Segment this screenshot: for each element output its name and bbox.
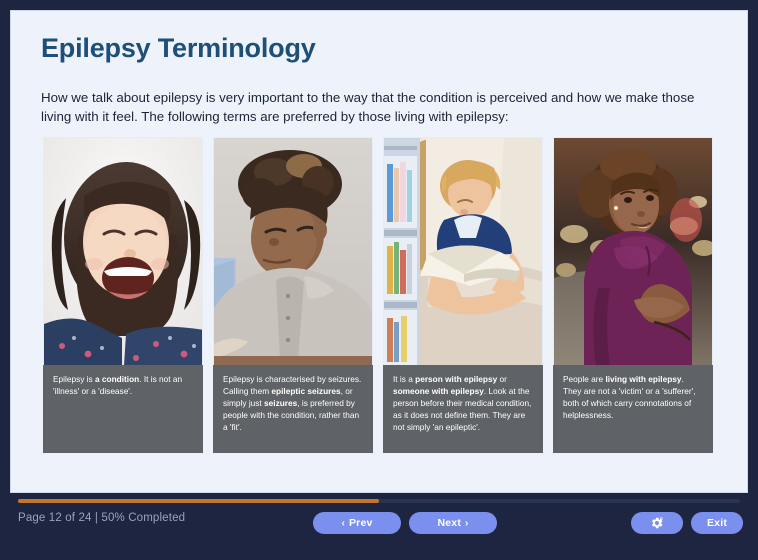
exit-button[interactable]: Exit bbox=[691, 512, 743, 534]
girl-in-purple-top-photo bbox=[553, 137, 713, 365]
progress-status-label: Page 12 of 24 | 50% Completed bbox=[18, 512, 185, 524]
term-card-caption: Epilepsy is a condition. It is not an 'i… bbox=[43, 365, 203, 453]
slide-content-panel: Epilepsy Terminology How we talk about e… bbox=[10, 10, 748, 493]
term-card-caption: It is a person with epilepsy or someone … bbox=[383, 365, 543, 453]
next-button[interactable]: Next › bbox=[409, 512, 497, 534]
term-card: It is a person with epilepsy or someone … bbox=[383, 137, 543, 453]
exit-button-label: Exit bbox=[707, 517, 727, 529]
terminology-card-row: Epilepsy is a condition. It is not an 'i… bbox=[43, 137, 719, 453]
term-card: Epilepsy is a condition. It is not an 'i… bbox=[43, 137, 203, 453]
course-player-window: Epilepsy Terminology How we talk about e… bbox=[0, 0, 758, 560]
next-button-label: Next bbox=[437, 517, 461, 529]
chevron-right-icon: › bbox=[465, 518, 469, 529]
laughing-young-girl-photo bbox=[43, 137, 203, 365]
term-card-caption: People are living with epilepsy. They ar… bbox=[553, 365, 713, 453]
progress-bar-track[interactable] bbox=[18, 499, 740, 503]
term-card: People are living with epilepsy. They ar… bbox=[553, 137, 713, 453]
prev-button[interactable]: ‹ Prev bbox=[313, 512, 401, 534]
boy-writing-at-desk-photo bbox=[213, 137, 373, 365]
page-title: Epilepsy Terminology bbox=[41, 33, 316, 64]
intro-paragraph: How we talk about epilepsy is very impor… bbox=[41, 89, 721, 127]
prev-button-label: Prev bbox=[349, 517, 373, 529]
term-card-caption: Epilepsy is characterised by seizures. C… bbox=[213, 365, 373, 453]
chevron-left-icon: ‹ bbox=[341, 518, 345, 529]
term-card: Epilepsy is characterised by seizures. C… bbox=[213, 137, 373, 453]
boy-reading-book-on-window-seat-photo bbox=[383, 137, 543, 365]
settings-button[interactable] bbox=[631, 512, 683, 534]
gear-icon bbox=[650, 516, 664, 530]
progress-bar-fill bbox=[18, 499, 379, 503]
